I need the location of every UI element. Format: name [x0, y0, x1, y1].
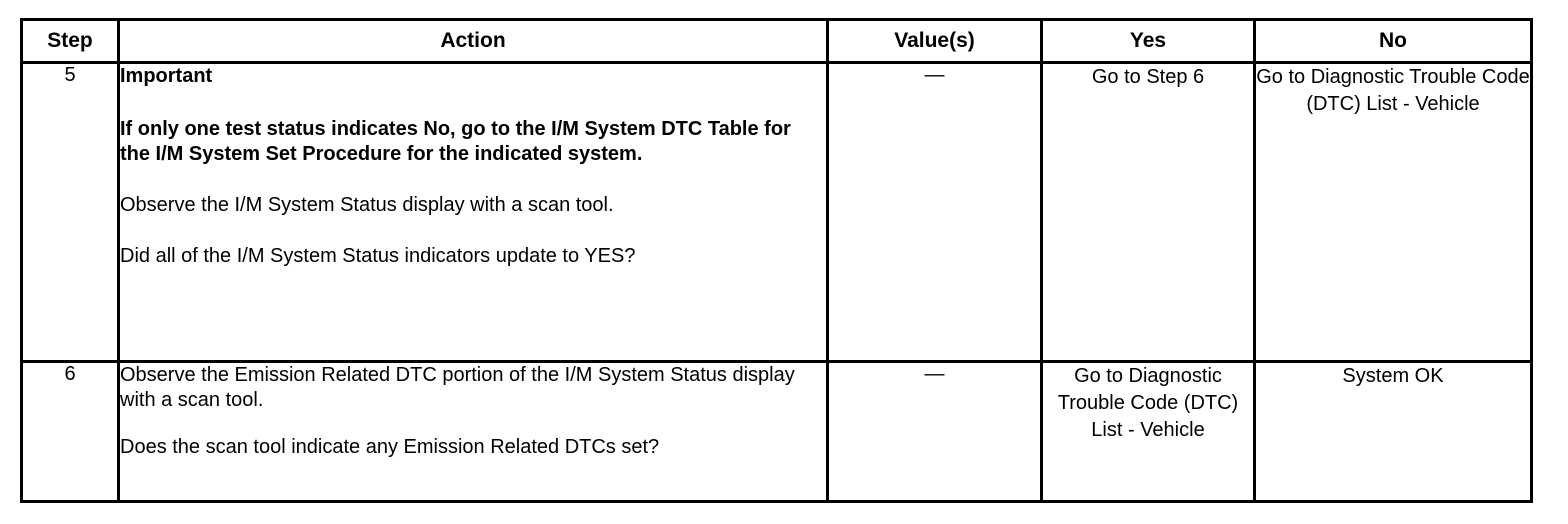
column-header-action: Action — [119, 20, 828, 63]
no-outcome-cell: System OK — [1255, 362, 1532, 502]
spacer — [120, 218, 826, 244]
no-value-dash: — — [925, 65, 945, 85]
important-label: Important — [120, 64, 826, 89]
table-row: 6 Observe the Emission Related DTC porti… — [22, 362, 1532, 502]
column-header-no: No — [1255, 20, 1532, 63]
no-value-dash: — — [925, 364, 945, 384]
value-cell: — — [828, 362, 1042, 502]
action-cell: Important If only one test status indica… — [119, 63, 828, 362]
table-row: 5 Important If only one test status indi… — [22, 63, 1532, 362]
action-instruction-text: Observe the I/M System Status display wi… — [120, 193, 826, 218]
column-header-yes: Yes — [1042, 20, 1255, 63]
value-cell: — — [828, 63, 1042, 362]
step-number-cell: 6 — [22, 362, 119, 502]
action-cell: Observe the Emission Related DTC portion… — [119, 362, 828, 502]
spacer — [120, 167, 826, 193]
step-number-cell: 5 — [22, 63, 119, 362]
diagnostic-procedure-table-container: Step Action Value(s) Yes No 5 Important … — [20, 18, 1533, 497]
column-header-values: Value(s) — [828, 20, 1042, 63]
action-question-text: Did all of the I/M System Status indicat… — [120, 244, 826, 269]
action-instruction-text: Observe the Emission Related DTC portion… — [120, 363, 826, 413]
yes-outcome-cell: Go to Diagnostic Trouble Code (DTC) List… — [1042, 362, 1255, 502]
spacer — [120, 89, 826, 117]
yes-outcome-cell: Go to Step 6 — [1042, 63, 1255, 362]
column-header-step: Step — [22, 20, 119, 63]
spacer — [120, 413, 826, 435]
important-notice-text: If only one test status indicates No, go… — [120, 117, 826, 167]
no-outcome-cell: Go to Diagnostic Trouble Code (DTC) List… — [1255, 63, 1532, 362]
table-header-row: Step Action Value(s) Yes No — [22, 20, 1532, 63]
action-question-text: Does the scan tool indicate any Emission… — [120, 435, 826, 460]
diagnostic-procedure-table: Step Action Value(s) Yes No 5 Important … — [20, 18, 1533, 503]
